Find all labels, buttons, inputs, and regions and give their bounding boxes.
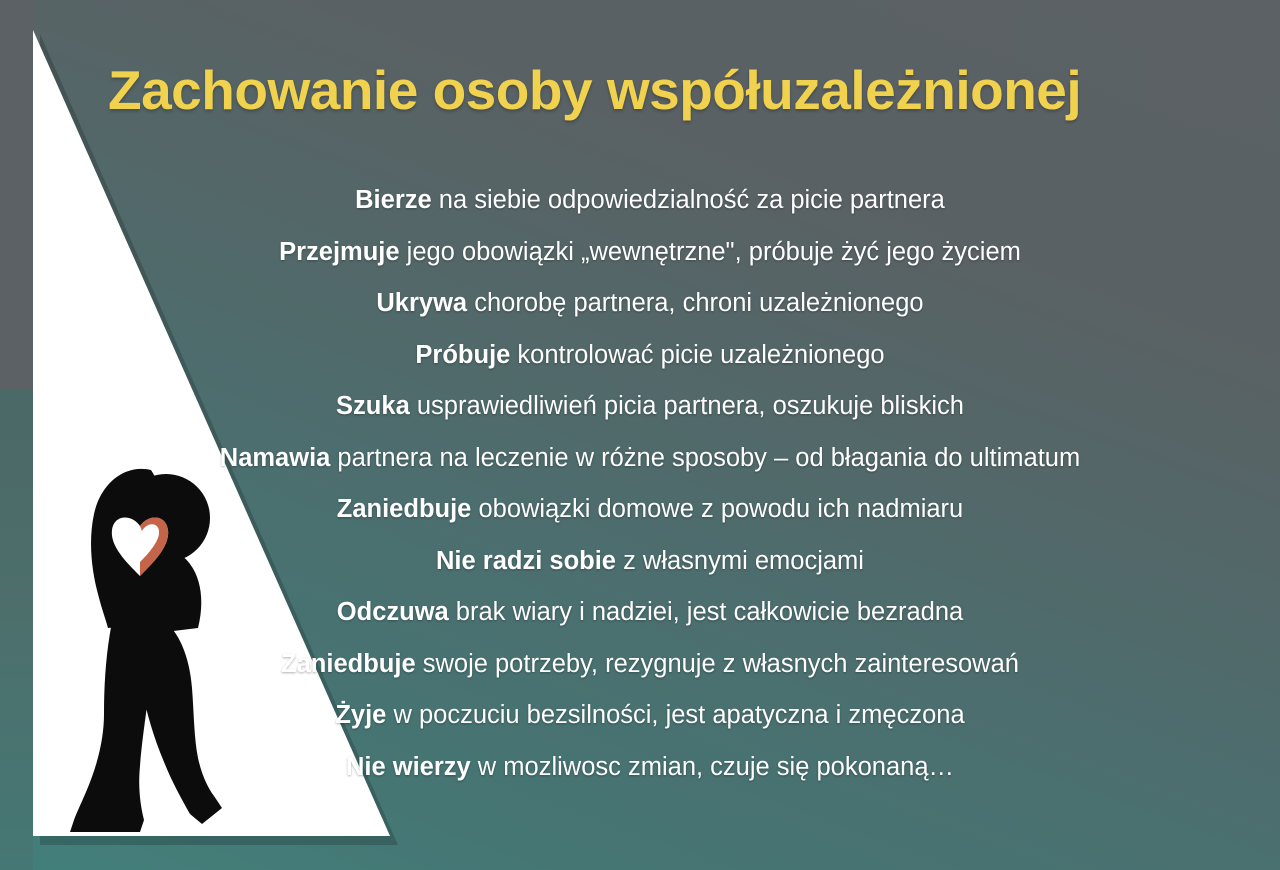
list-item: Zaniedbuje swoje potrzeby, rezygnuje z w… [60,639,1240,691]
list-item-rest: w mozliwosc zmian, czuje się pokonaną… [471,753,954,781]
list-item: Odczuwa brak wiary i nadziei, jest całko… [60,587,1240,639]
list-item-lead: Zaniedbuje [281,650,416,678]
list-item-lead: Zaniedbuje [337,495,472,523]
list-item: Szuka usprawiedliwień picia partnera, os… [60,381,1240,433]
list-item-rest: z własnymi emocjami [616,547,864,575]
list-item-rest: brak wiary i nadziei, jest całkowicie be… [449,598,963,626]
slide-root: Zachowanie osoby współuzależnionej Bierz… [0,0,1280,870]
list-item-rest: jego obowiązki „wewnętrzne", próbuje żyć… [400,238,1021,266]
list-item-lead: Nie radzi sobie [436,547,616,575]
list-item: Ukrywa chorobę partnera, chroni uzależni… [60,278,1240,330]
list-item-lead: Bierze [355,186,432,214]
list-item: Namawia partnera na leczenie w różne spo… [60,433,1240,485]
list-item: Zaniedbuje obowiązki domowe z powodu ich… [60,484,1240,536]
list-item: Przejmuje jego obowiązki „wewnętrzne", p… [60,227,1240,279]
behaviour-list: Bierze na siebie odpowiedzialność za pic… [60,175,1240,793]
list-item-rest: w poczuciu bezsilności, jest apatyczna i… [386,701,964,729]
list-item-lead: Namawia [220,444,331,472]
list-item-rest: swoje potrzeby, rezygnuje z własnych zai… [416,650,1019,678]
list-item-rest: chorobę partnera, chroni uzależnionego [467,289,923,317]
list-item-lead: Próbuje [415,341,510,369]
list-item-rest: kontrolować picie uzależnionego [510,341,884,369]
list-item: Żyje w poczuciu bezsilności, jest apatyc… [60,690,1240,742]
list-item-lead: Nie wierzy [346,753,471,781]
list-item-lead: Przejmuje [279,238,399,266]
list-item: Bierze na siebie odpowiedzialność za pic… [60,175,1240,227]
list-item-lead: Ukrywa [376,289,467,317]
list-item-lead: Szuka [336,392,410,420]
list-item-rest: partnera na leczenie w różne sposoby – o… [330,444,1080,472]
slide-title: Zachowanie osoby współuzależnionej [108,62,1238,120]
list-item: Próbuje kontrolować picie uzależnionego [60,330,1240,382]
left-gray-block [0,0,33,390]
list-item: Nie radzi sobie z własnymi emocjami [60,536,1240,588]
list-item: Nie wierzy w mozliwosc zmian, czuje się … [60,742,1240,794]
list-item-rest: na siebie odpowiedzialność za picie part… [432,186,945,214]
list-item-rest: usprawiedliwień picia partnera, oszukuje… [410,392,964,420]
list-item-rest: obowiązki domowe z powodu ich nadmiaru [471,495,963,523]
list-item-lead: Odczuwa [337,598,449,626]
list-item-lead: Żyje [335,701,386,729]
